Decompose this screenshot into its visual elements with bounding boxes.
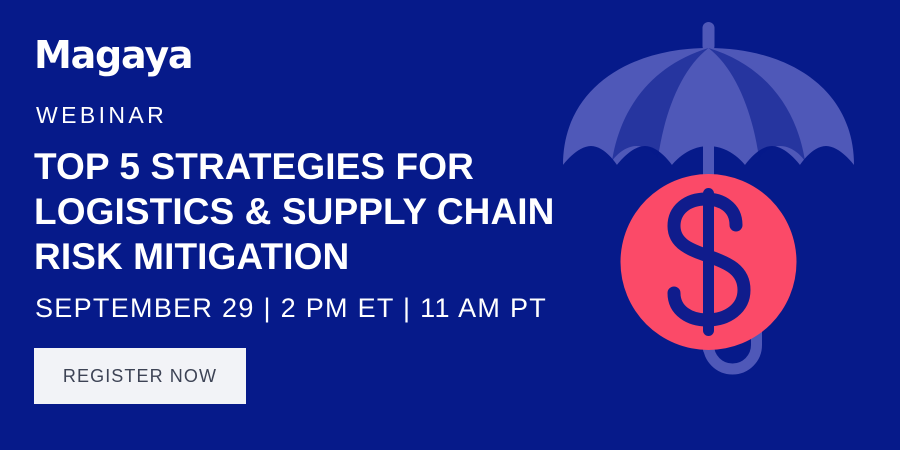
headline-line-1: TOP 5 STRATEGIES FOR [34,144,654,189]
umbrella-handle-hook [709,330,757,369]
webinar-promo-banner: Magaya WEBINAR TOP 5 STRATEGIES FOR LOGI… [0,0,900,450]
umbrella-top-knob [703,22,715,52]
dollar-sign-icon [674,188,744,336]
eyebrow-label: WEBINAR [36,104,167,127]
canopy-seam-right [709,48,806,161]
headline-line-3: RISK MITIGATION [34,234,654,279]
register-now-label: REGISTER NOW [63,367,217,385]
page-title: TOP 5 STRATEGIES FOR LOGISTICS & SUPPLY … [34,144,654,279]
register-now-button[interactable]: REGISTER NOW [34,348,246,404]
schedule-text: SEPTEMBER 29 | 2 PM ET | 11 AM PT [35,295,547,322]
umbrella-shaft [703,55,714,355]
content-column: Magaya WEBINAR TOP 5 STRATEGIES FOR LOGI… [34,0,654,450]
magaya-logo: Magaya [34,36,192,74]
headline-line-2: LOGISTICS & SUPPLY CHAIN [34,189,654,234]
